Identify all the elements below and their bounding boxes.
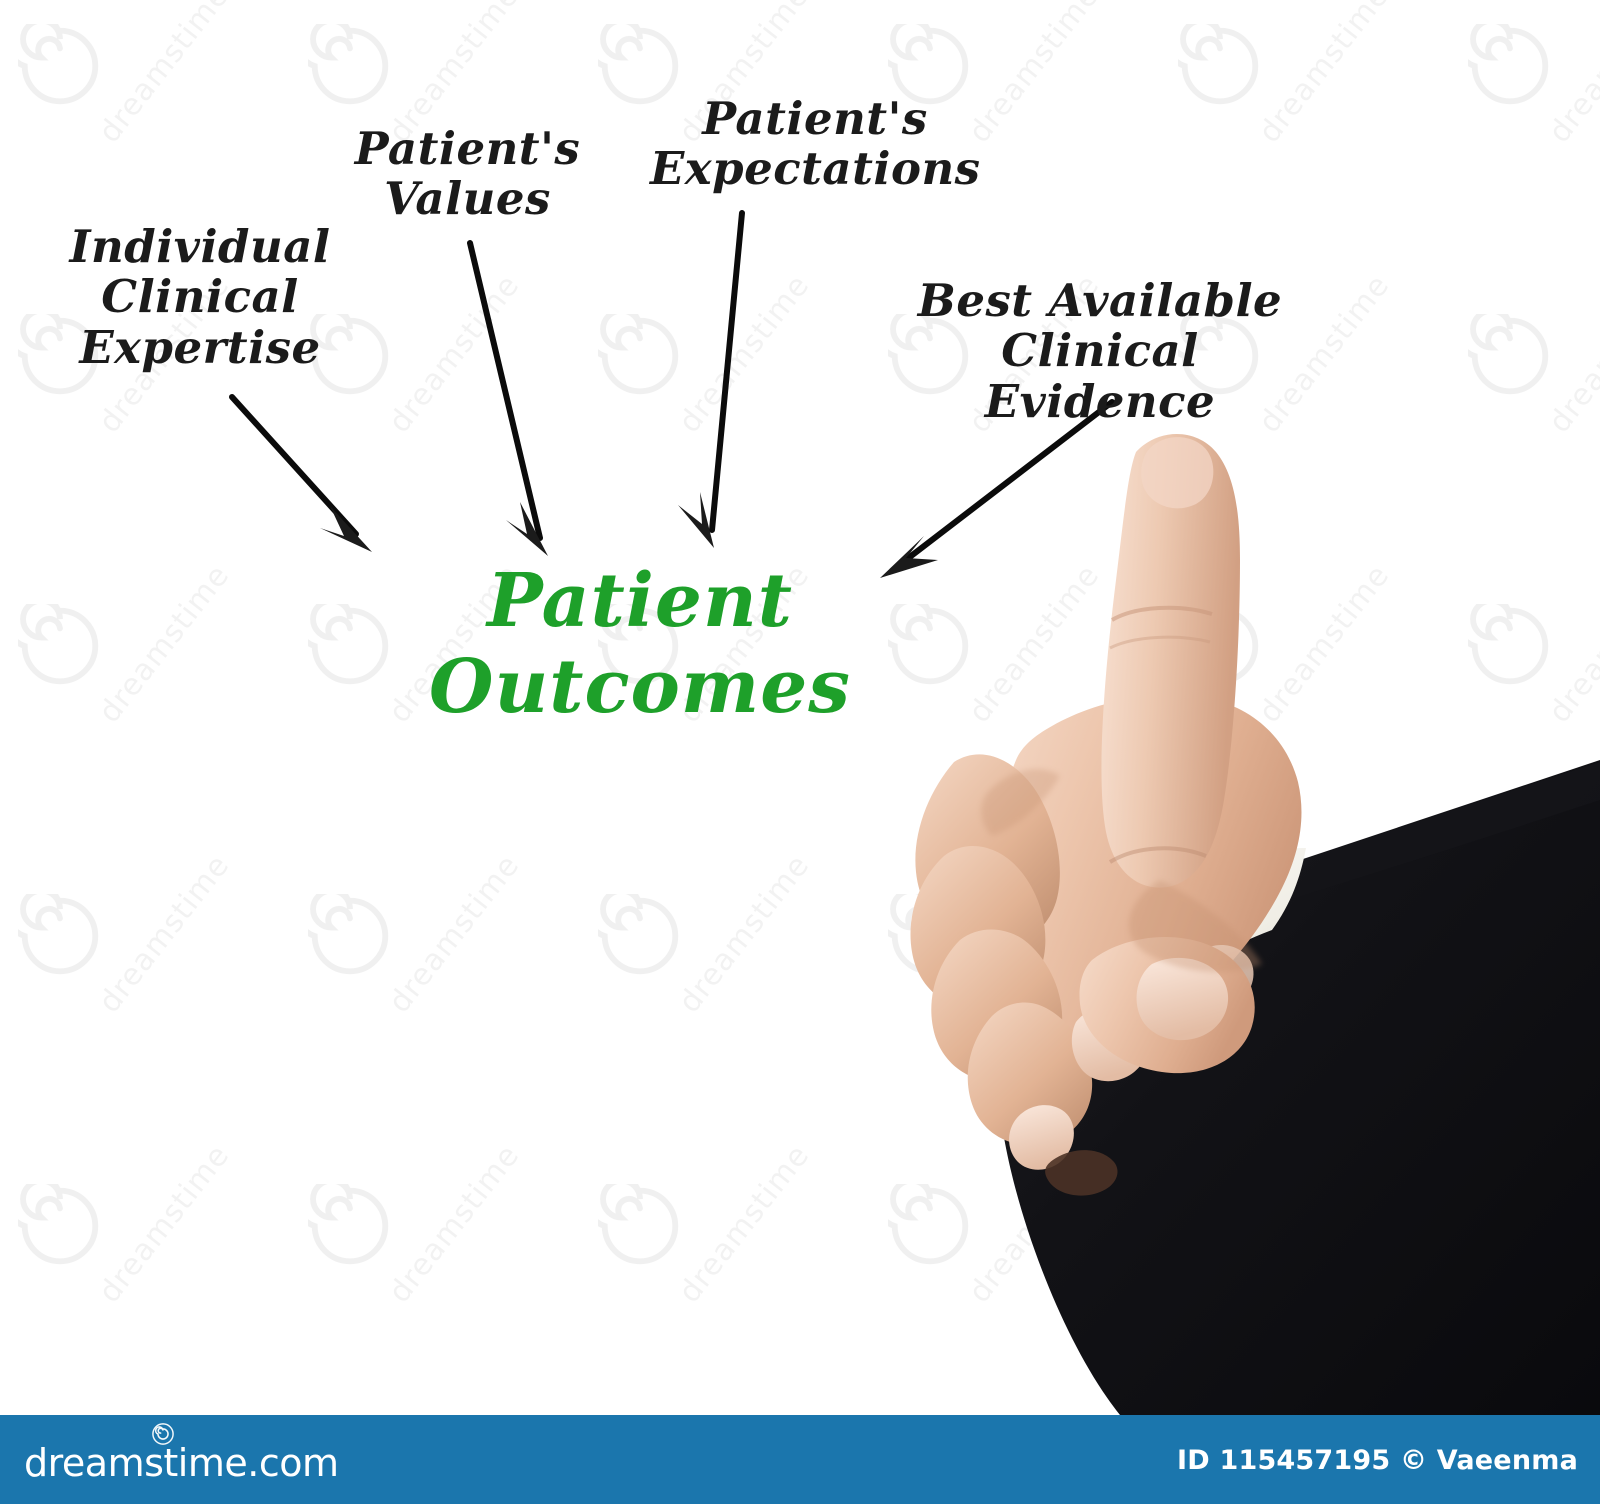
watermark-word: dreamstime <box>1542 1138 1600 1309</box>
watermark-tile: dreamstime <box>580 290 870 580</box>
spiral-icon <box>1468 894 1552 978</box>
spiral-icon <box>18 894 102 978</box>
watermark-word: dreamstime <box>1252 0 1397 150</box>
suit-sleeve <box>999 760 1600 1415</box>
spiral-icon <box>598 1184 682 1268</box>
label-best-available-clinical-evidence: Best Available Clinical Evidence <box>880 276 1320 427</box>
dreamstime-logo-text[interactable]: dreamstime.com <box>24 1441 338 1485</box>
watermark-tile: dreamstime <box>1160 580 1450 870</box>
center-title-patient-outcomes: Patient Outcomes <box>270 558 1010 730</box>
footer-bar: dreamstime.com ID 115457195 © Vaeenma <box>0 1415 1600 1504</box>
label-individual-clinical-expertise: Individual Clinical Expertise <box>40 222 360 373</box>
watermark-tile: dreamstime <box>1450 290 1600 580</box>
hand <box>910 434 1301 1196</box>
watermark-tile: dreamstime <box>0 1160 290 1450</box>
spiral-icon <box>888 1184 972 1268</box>
watermark-word: dreamstime <box>962 848 1107 1019</box>
watermark-tile: dreamstime <box>290 870 580 1160</box>
spiral-icon <box>308 894 392 978</box>
watermark-tile: dreamstime <box>580 1160 870 1450</box>
spiral-icon <box>888 894 972 978</box>
spiral-icon <box>1178 1184 1262 1268</box>
watermark-tile: dreamstime <box>1450 0 1600 290</box>
watermark-word: dreamstime <box>1542 0 1600 150</box>
watermark-word: dreamstime <box>92 558 237 729</box>
arrow-line-expectations <box>712 213 742 530</box>
arrow-head-values <box>506 502 548 556</box>
spiral-icon <box>1178 24 1262 108</box>
watermark-tile: dreamstime <box>580 870 870 1160</box>
spiral-icon <box>1178 604 1262 688</box>
watermark-tile: dreamstime <box>870 870 1160 1160</box>
spiral-icon <box>18 1184 102 1268</box>
watermark-word: dreamstime <box>1252 848 1397 1019</box>
watermark-word: dreamstime <box>1542 268 1600 439</box>
spiral-icon <box>308 24 392 108</box>
label-patients-values: Patient's Values <box>340 124 595 225</box>
watermark-word: dreamstime <box>382 1138 527 1309</box>
watermark-tile: dreamstime <box>1450 580 1600 870</box>
watermark-word: dreamstime <box>1542 558 1600 729</box>
spiral-icon <box>1468 314 1552 398</box>
watermark-tile: dreamstime <box>1450 1160 1600 1450</box>
watermark-tile: dreamstime <box>0 870 290 1160</box>
spiral-icon <box>1468 24 1552 108</box>
watermark-word: dreamstime <box>1542 848 1600 1019</box>
watermark-word: dreamstime <box>382 268 527 439</box>
watermark-word: dreamstime <box>92 1138 237 1309</box>
spiral-icon <box>1468 604 1552 688</box>
watermark-tile: dreamstime <box>1160 1160 1450 1450</box>
watermark-tile: dreamstime <box>1160 870 1450 1160</box>
watermark-tile: dreamstime <box>1450 870 1600 1160</box>
arrow-line-values <box>470 243 540 538</box>
arrow-head-expertise <box>320 506 372 552</box>
watermark-tile: dreamstime <box>870 1160 1160 1450</box>
watermark-word: dreamstime <box>962 1138 1107 1309</box>
spiral-registered-icon <box>152 1423 174 1445</box>
watermark-word: dreamstime <box>92 848 237 1019</box>
shirt-cuff <box>1051 848 1306 1082</box>
label-patients-expectations: Patient's Expectations <box>650 94 980 195</box>
watermark-word: dreamstime <box>1252 558 1397 729</box>
spiral-icon <box>1468 1184 1552 1268</box>
image-canvas: Individual Clinical Expertise Patient's … <box>0 0 1600 1504</box>
watermark-word: dreamstime <box>382 848 527 1019</box>
spiral-icon <box>308 1184 392 1268</box>
watermark-word: dreamstime <box>1252 1138 1397 1309</box>
watermark-word: dreamstime <box>672 268 817 439</box>
spiral-icon <box>18 24 102 108</box>
spiral-icon <box>598 314 682 398</box>
watermark-word: dreamstime <box>672 1138 817 1309</box>
spiral-icon <box>598 894 682 978</box>
arrow-head-expectations <box>678 492 714 548</box>
watermark-tile: dreamstime <box>1160 0 1450 290</box>
image-credit: ID 115457195 © Vaeenma <box>1177 1445 1578 1476</box>
watermark-tile: dreamstime <box>290 1160 580 1450</box>
watermark-word: dreamstime <box>92 0 237 150</box>
spiral-icon <box>1178 894 1262 978</box>
spiral-icon <box>18 604 102 688</box>
watermark-tile: dreamstime <box>0 580 290 870</box>
watermark-word: dreamstime <box>672 848 817 1019</box>
watermark-word: dreamstime <box>962 0 1107 150</box>
arrow-line-expertise <box>232 397 356 534</box>
